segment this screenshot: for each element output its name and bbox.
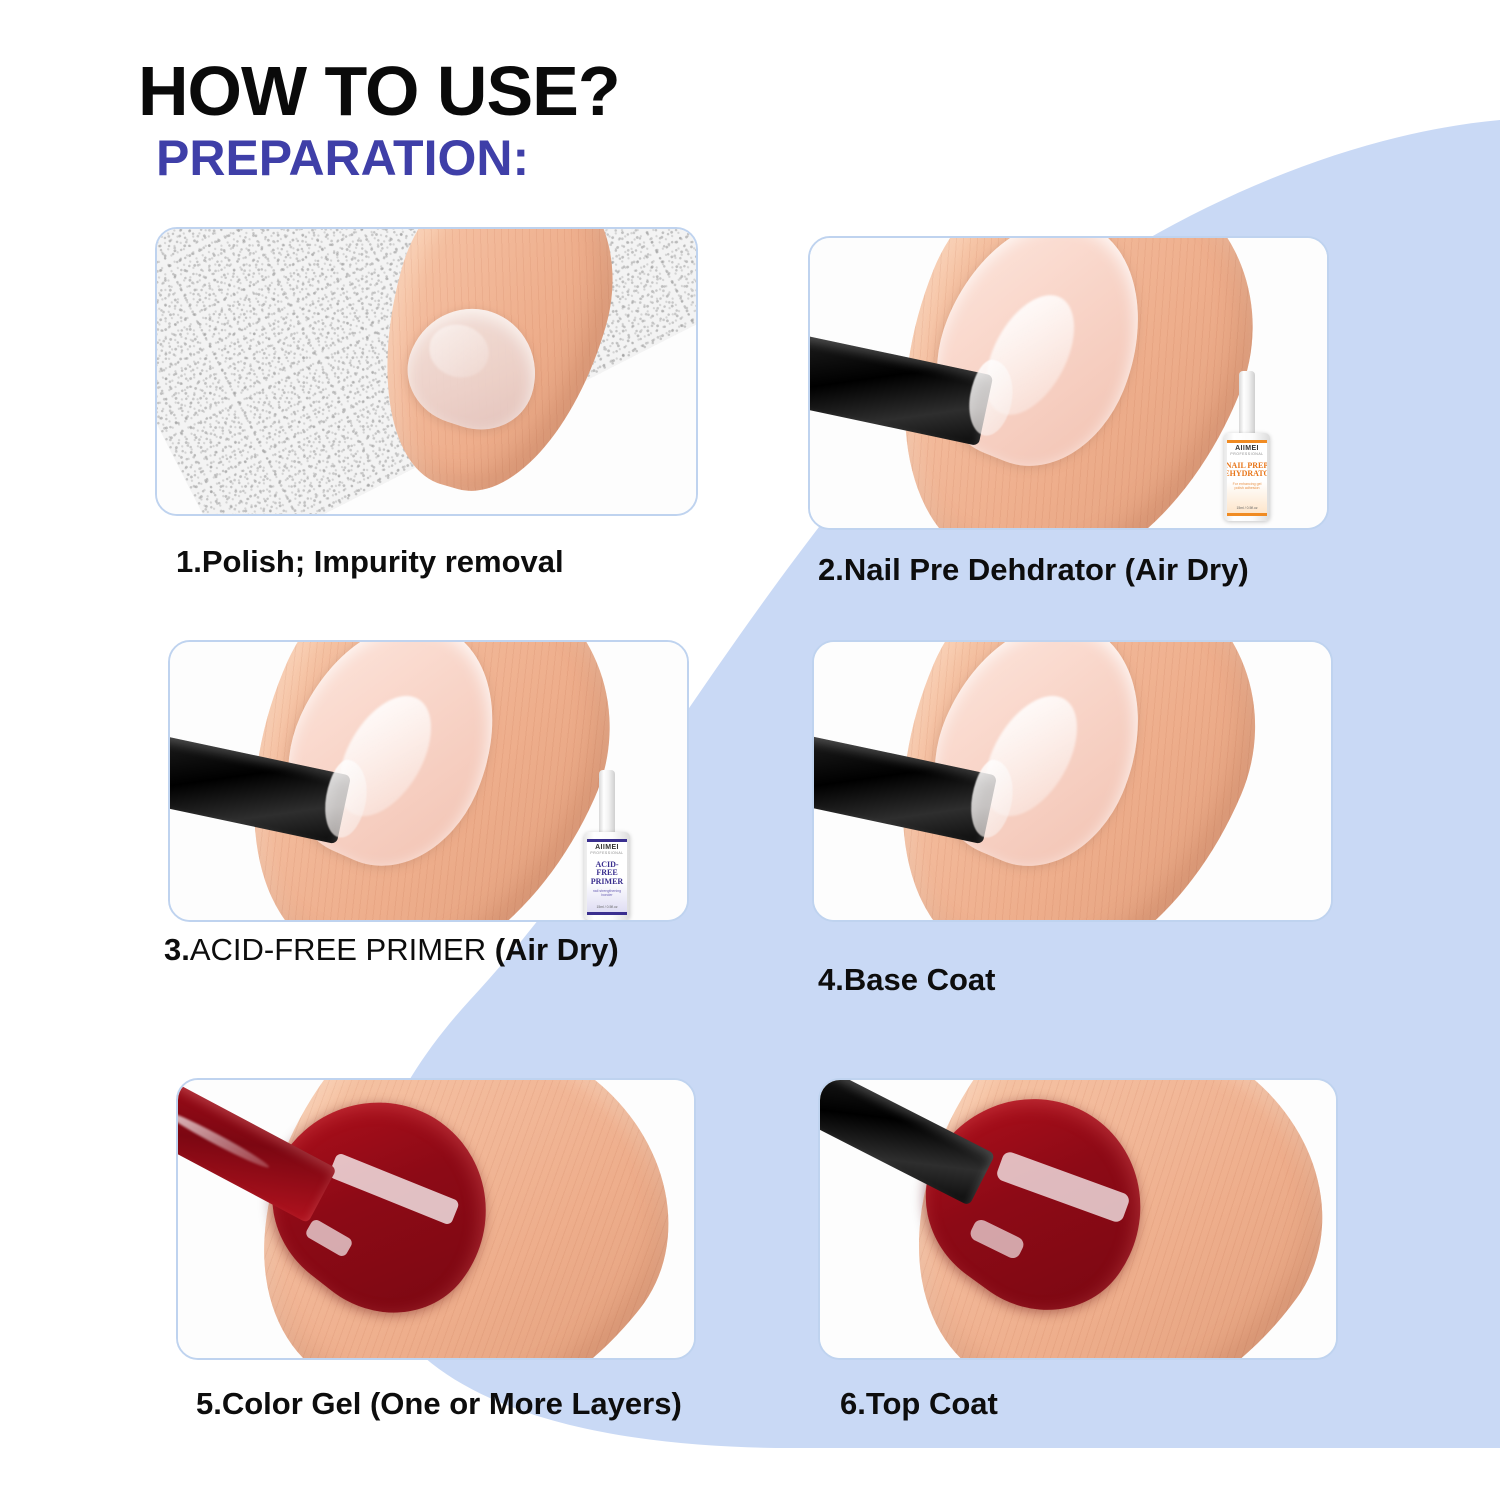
nail-prep-dehydrator-bottle: AIIMEI PROFESSIONAL NAIL PREP DEHYDRATOR… <box>1224 371 1270 521</box>
bottle-product-sub: nail strengthening bonder <box>587 890 627 898</box>
step-2-caption: 2.Nail Pre Dehdrator (Air Dry) <box>818 552 1249 588</box>
step-6-caption-text: 6.Top Coat <box>840 1386 998 1421</box>
step-3-label-regular: ACID-FREE PRIMER <box>190 932 495 967</box>
bottle-label: AIIMEI PROFESSIONAL NAIL PREP DEHYDRATOR… <box>1227 440 1267 516</box>
step-4-caption: 4.Base Coat <box>818 962 995 998</box>
bottle-volume: 15ml / 0.5fl.oz <box>587 905 627 909</box>
step-2-image-card: AIIMEI PROFESSIONAL NAIL PREP DEHYDRATOR… <box>808 236 1329 530</box>
bottle-label: AIIMEI PROFESSIONAL ACID-FREE PRIMER nai… <box>587 839 627 915</box>
bottle-brand: AIIMEI <box>1235 445 1259 452</box>
step-6-caption: 6.Top Coat <box>840 1386 998 1422</box>
bottle-product-sub: For enhancing gel polish adhesion <box>1227 483 1267 491</box>
label-stripe-bottom <box>1227 513 1267 516</box>
bottle-cap <box>599 770 615 840</box>
step-1-caption: 1.Polish; Impurity removal <box>176 544 564 580</box>
step-2-caption-text: 2.Nail Pre Dehdrator (Air Dry) <box>818 552 1249 587</box>
step-4-photo <box>814 642 1331 920</box>
step-5-caption: 5.Color Gel (One or More Layers) <box>196 1386 682 1422</box>
step-5-photo <box>178 1080 694 1358</box>
acid-free-primer-bottle: AIIMEI PROFESSIONAL ACID-FREE PRIMER nai… <box>584 770 630 920</box>
bottle-product-name: NAIL PREP DEHYDRATOR <box>1227 462 1267 479</box>
label-stripe-top <box>587 839 627 842</box>
bottle-brand-sub: PROFESSIONAL <box>590 851 623 855</box>
step-6-image-card <box>818 1078 1338 1360</box>
step-1-photo <box>157 229 696 514</box>
step-1-image-card <box>155 227 698 516</box>
step-5-image-card <box>176 1078 696 1360</box>
step-3-label-bold: (Air Dry) <box>495 932 619 967</box>
step-4-caption-text: 4.Base Coat <box>818 962 995 997</box>
label-stripe-top <box>1227 440 1267 443</box>
bottle-brand-sub: PROFESSIONAL <box>1230 452 1263 456</box>
step-4-image-card <box>812 640 1333 922</box>
bottle-product-name: ACID-FREE PRIMER <box>587 861 627 886</box>
bottle-body: AIIMEI PROFESSIONAL NAIL PREP DEHYDRATOR… <box>1224 433 1270 521</box>
step-6-photo <box>820 1080 1336 1358</box>
bottle-brand: AIIMEI <box>595 844 619 851</box>
step-3-image-card: AIIMEI PROFESSIONAL ACID-FREE PRIMER nai… <box>168 640 689 922</box>
steps-grid: 1.Polish; Impurity removal <box>0 0 1500 1500</box>
step-3-number: 3. <box>164 932 190 967</box>
bottle-cap <box>1239 371 1255 441</box>
label-stripe-bottom <box>587 912 627 915</box>
bottle-volume: 15ml / 0.5fl.oz <box>1227 506 1267 510</box>
step-3-caption: 3.ACID-FREE PRIMER (Air Dry) <box>164 932 619 968</box>
bottle-body: AIIMEI PROFESSIONAL ACID-FREE PRIMER nai… <box>584 832 630 920</box>
step-5-caption-text: 5.Color Gel (One or More Layers) <box>196 1386 682 1421</box>
step-1-caption-text: 1.Polish; Impurity removal <box>176 544 564 579</box>
